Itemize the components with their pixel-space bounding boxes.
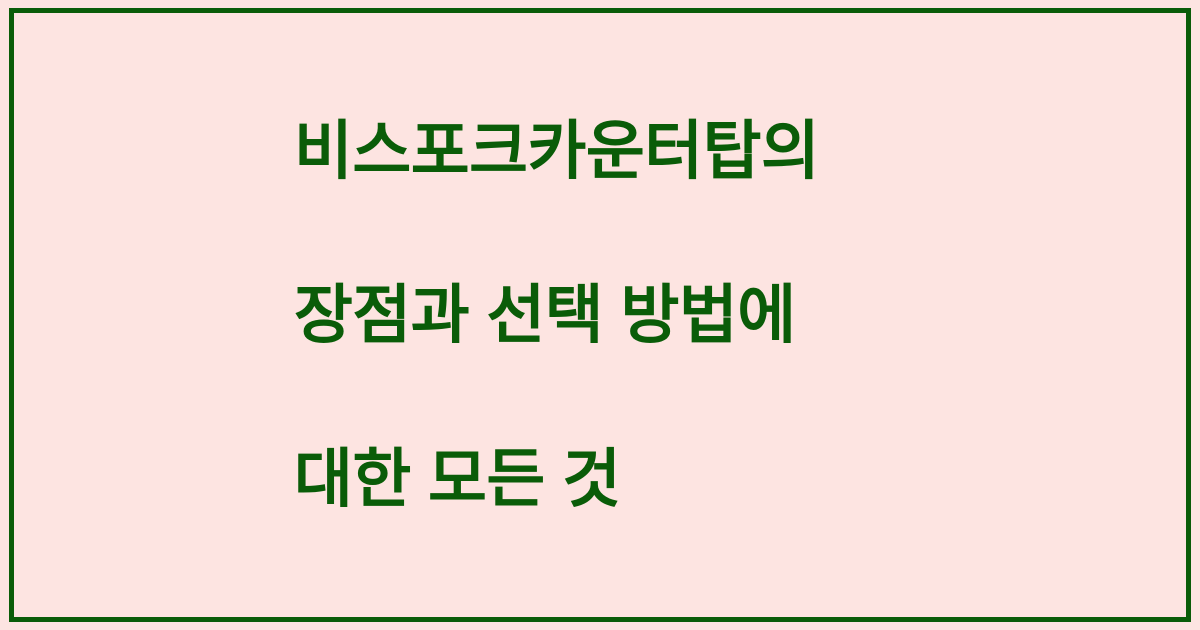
title-line-1: 비스포크카운터탑의	[294, 110, 906, 192]
page-title: 비스포크카운터탑의 장점과 선택 방법에 대한 모든 것	[294, 28, 906, 602]
title-line-2: 장점과 선택 방법에	[294, 274, 906, 356]
title-line-3: 대한 모든 것	[294, 438, 906, 520]
thumbnail-canvas: 비스포크카운터탑의 장점과 선택 방법에 대한 모든 것	[0, 0, 1200, 630]
title-block: 비스포크카운터탑의 장점과 선택 방법에 대한 모든 것	[0, 0, 1200, 630]
